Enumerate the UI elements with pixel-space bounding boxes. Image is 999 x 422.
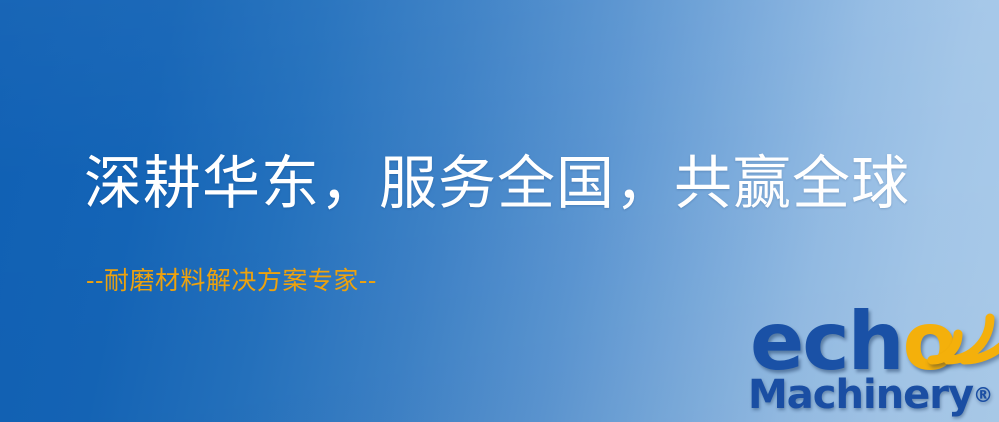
logo-brand-machinery-text: Machinery [748,372,973,418]
logo-wordmark: echo Machinery® [744,300,999,422]
banner-headline: 深耕华东，服务全国，共赢全球 [84,152,910,214]
logo-brand-echo: echo [750,302,956,382]
banner-subtitle: --耐磨材料解决方案专家-- [86,266,377,296]
logo-brand-machinery: Machinery® [748,374,993,416]
company-logo[interactable]: echo Machinery® [744,300,999,422]
hero-banner: 深耕华东，服务全国，共赢全球 --耐磨材料解决方案专家-- echo Machi… [0,0,999,422]
registered-trademark-icon: ® [973,383,993,407]
echo-wave-icon [926,294,999,368]
